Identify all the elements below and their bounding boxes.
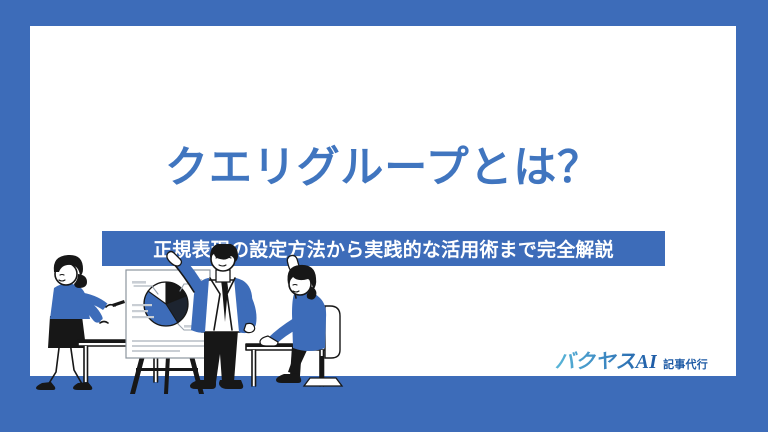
slide-white-panel: クエリグループとは？ 正規表現の設定方法から実践的な活用術まで完全解説 .bl …: [30, 26, 736, 404]
slide-canvas: クエリグループとは？ 正規表現の設定方法から実践的な活用術まで完全解説 .bl …: [0, 0, 768, 432]
page-title: クエリグループとは？: [30, 144, 736, 193]
brand-tagline: 記事代行: [663, 356, 708, 372]
brand-name: バクヤスAI: [555, 345, 657, 374]
brand-logo: バクヤスAI 記事代行: [555, 345, 708, 374]
figure-person-seated-right: [260, 255, 342, 386]
figure-woman-left: [36, 255, 125, 390]
team-presentation-illustration: .bl { fill:#3d6cb9; } .dk { fill:#171717…: [30, 244, 428, 404]
